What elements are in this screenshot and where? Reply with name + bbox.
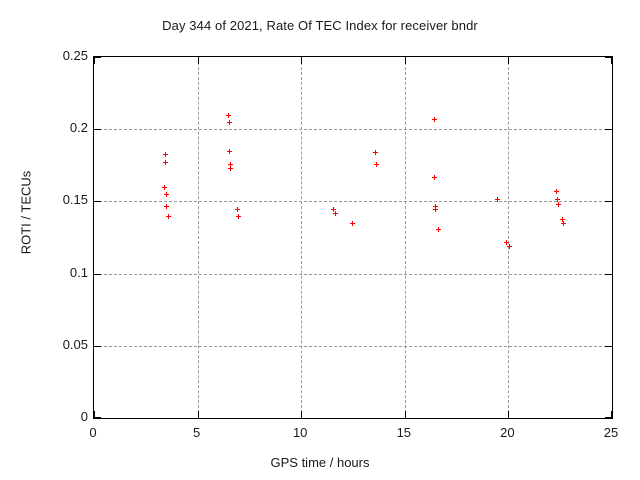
x-tick-mark (198, 57, 199, 64)
y-tick-mark (94, 57, 101, 58)
gridline-vertical (405, 57, 406, 418)
page-title: Day 344 of 2021, Rate Of TEC Index for r… (0, 18, 640, 33)
x-tick-mark (94, 411, 95, 418)
y-tick-label: 0.05 (63, 337, 88, 352)
y-axis-title: ROTI / TECUs (19, 143, 34, 283)
x-tick-mark (611, 411, 612, 418)
y-tick-label: 0.25 (63, 48, 88, 63)
scatter-marker-path (162, 113, 566, 249)
x-tick-mark (301, 57, 302, 64)
x-tick-mark (198, 411, 199, 418)
x-tick-mark (405, 57, 406, 64)
gridline-horizontal (94, 274, 612, 275)
gridline-vertical (301, 57, 302, 418)
y-tick-mark (605, 129, 612, 130)
x-tick-mark (94, 57, 95, 64)
gridline-horizontal (94, 201, 612, 202)
y-tick-mark (605, 201, 612, 202)
x-tick-mark (611, 57, 612, 64)
x-tick-label: 15 (384, 425, 424, 440)
x-tick-label: 5 (177, 425, 217, 440)
chart-page: Day 344 of 2021, Rate Of TEC Index for r… (0, 0, 640, 480)
y-tick-label: 0.1 (70, 265, 88, 280)
x-tick-mark (508, 411, 509, 418)
y-tick-mark (94, 274, 101, 275)
x-tick-mark (508, 57, 509, 64)
x-tick-mark (301, 411, 302, 418)
y-tick-label: 0.2 (70, 120, 88, 135)
scatter-points (94, 57, 612, 418)
x-tick-label: 0 (73, 425, 113, 440)
x-tick-mark (405, 411, 406, 418)
x-tick-label: 20 (487, 425, 527, 440)
x-axis-title: GPS time / hours (0, 455, 640, 470)
x-tick-label: 10 (280, 425, 320, 440)
y-tick-mark (605, 274, 612, 275)
gridline-vertical (198, 57, 199, 418)
y-tick-mark (94, 346, 101, 347)
plot-area (93, 56, 613, 419)
y-tick-label: 0.15 (63, 192, 88, 207)
gridline-horizontal (94, 346, 612, 347)
y-tick-mark (94, 129, 101, 130)
y-tick-mark (94, 417, 101, 418)
gridline-vertical (508, 57, 509, 418)
y-tick-mark (94, 201, 101, 202)
x-tick-label: 25 (591, 425, 631, 440)
gridline-horizontal (94, 129, 612, 130)
y-tick-label: 0 (81, 409, 88, 424)
y-tick-mark (605, 346, 612, 347)
